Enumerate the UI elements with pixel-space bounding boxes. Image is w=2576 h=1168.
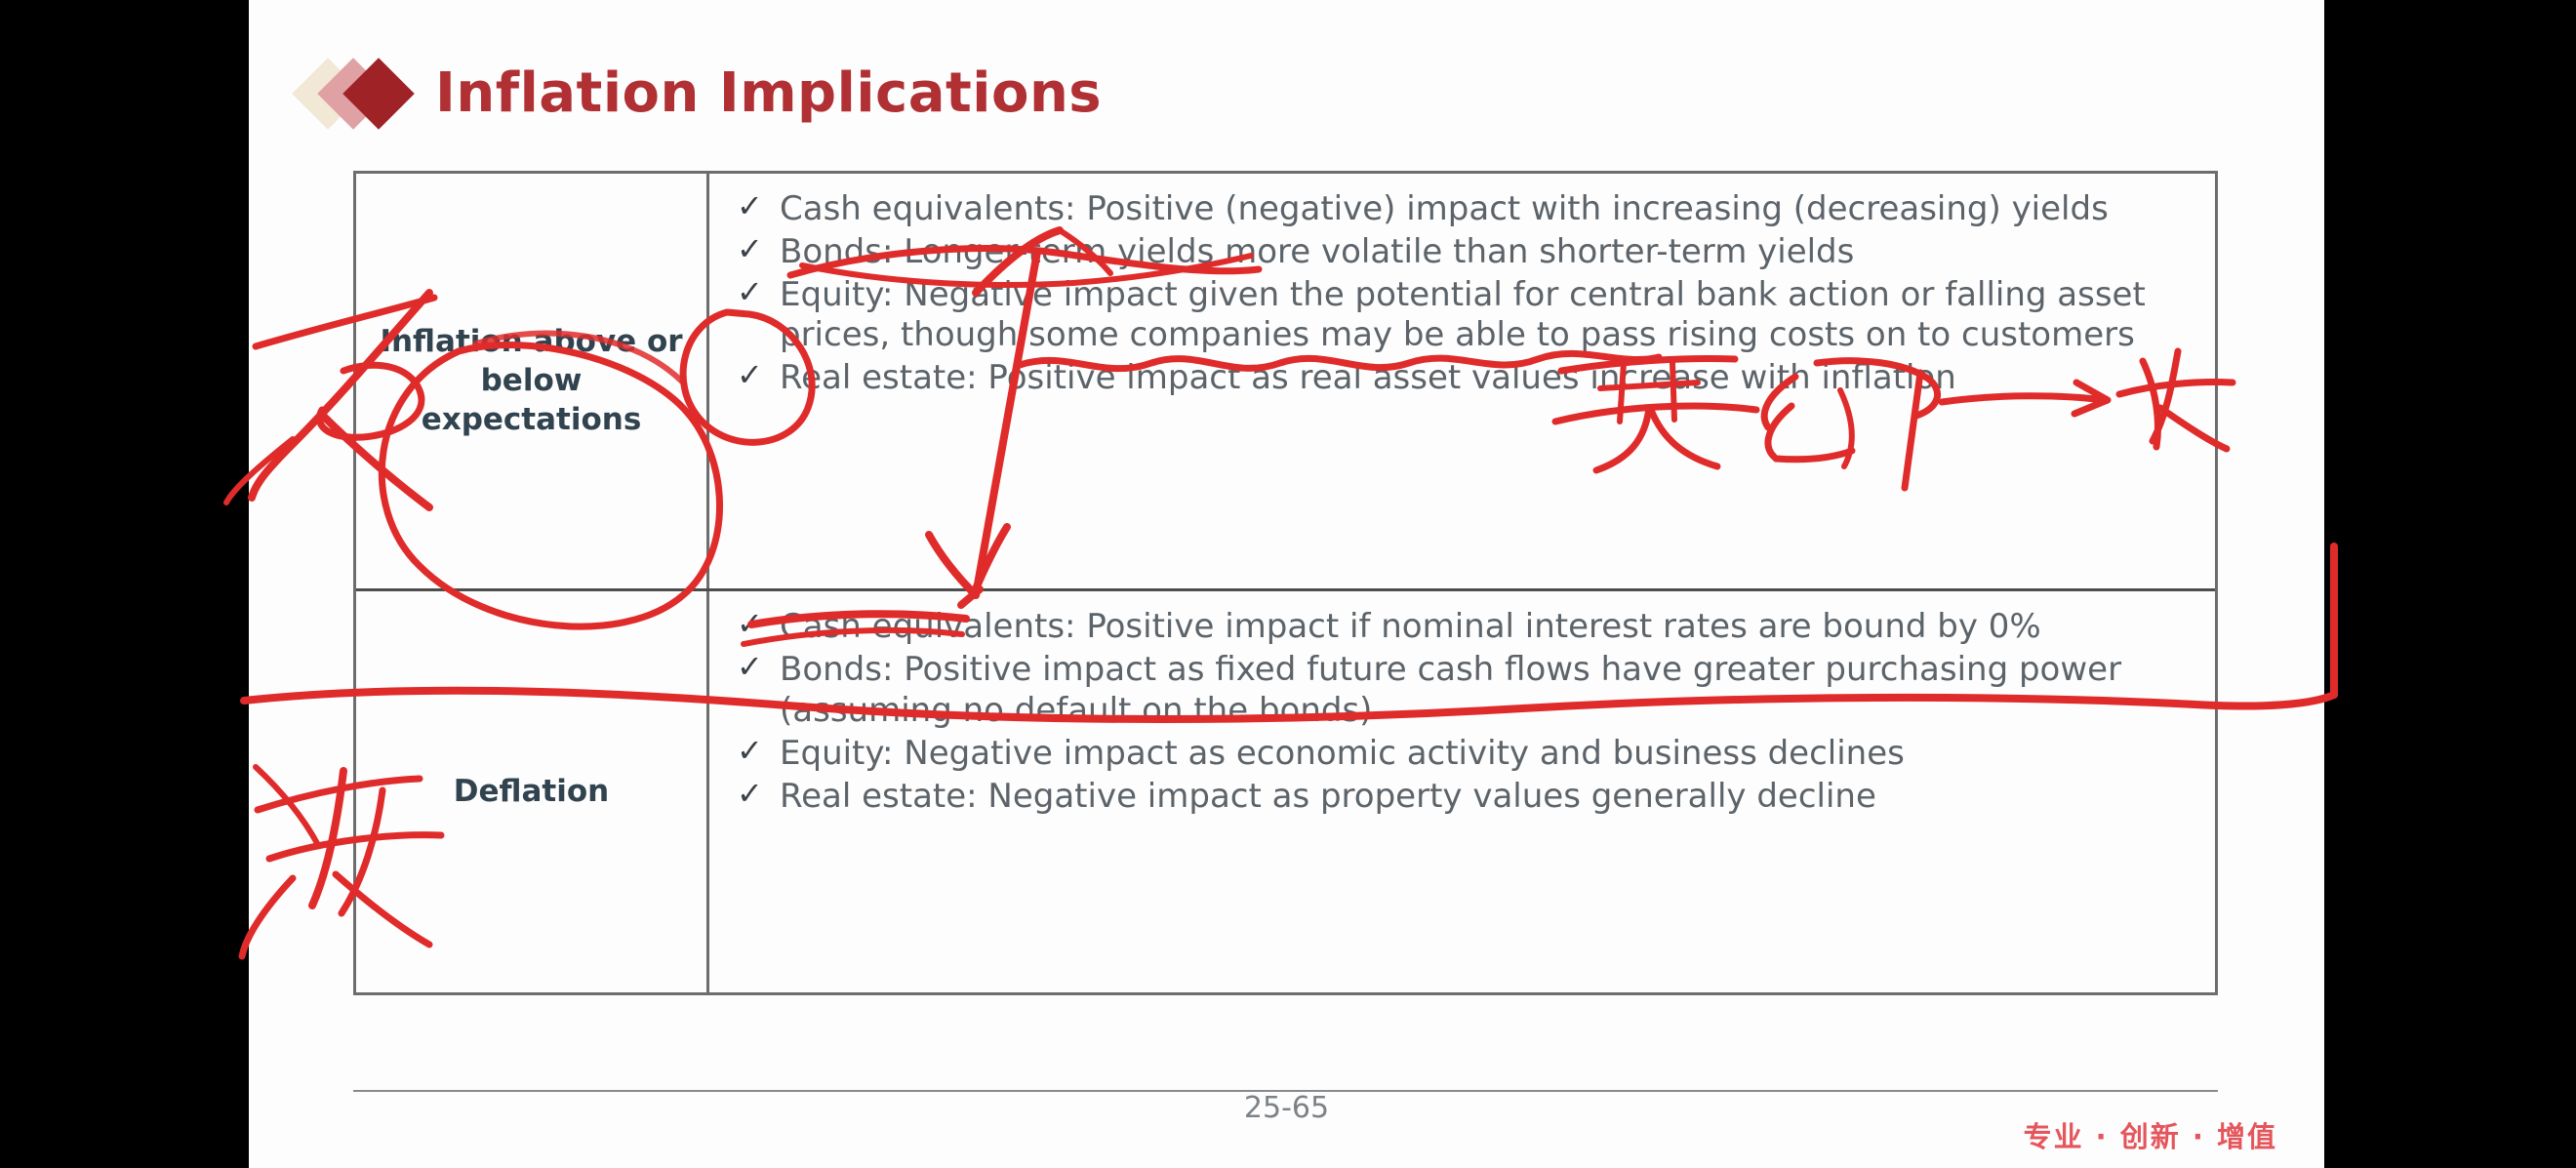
list-item-text: Bonds: Positive impact as fixed future c… [780,650,2121,730]
list-item-text: Cash equivalents: Positive impact if nom… [780,607,2041,646]
row-content-cell-deflation: ✓Cash equivalents: Positive impact if no… [709,591,2215,992]
row-label-cell-deflation: Deflation [356,591,709,992]
table-row: Inflation above or below expectations ✓C… [356,174,2215,591]
implications-table: Inflation above or below expectations ✓C… [353,171,2218,995]
check-icon: ✓ [737,605,763,643]
list-item-text: Equity: Negative impact given the potent… [780,275,2146,355]
list-item: ✓Bonds: Longer-term yields more volatile… [731,232,2190,273]
list-item: ✓Real estate: Negative impact as propert… [731,777,2190,818]
table-row: Deflation ✓Cash equivalents: Positive im… [356,591,2215,992]
list-item: ✓Equity: Negative impact as economic act… [731,734,2190,775]
page-number: 25-65 [249,1091,2324,1125]
list-item: ✓Equity: Negative impact given the poten… [731,275,2190,357]
row-label-text: Inflation above or below expectations [370,323,693,439]
page-title: Inflation Implications [435,61,1102,125]
bullet-list: ✓Cash equivalents: Positive impact if no… [731,607,2190,817]
list-item-text: Real estate: Positive impact as real ass… [780,358,1956,397]
check-icon: ✓ [737,230,763,268]
check-icon: ✓ [737,648,763,686]
list-item-text: Cash equivalents: Positive (negative) im… [780,189,2109,228]
brand-tagline: 专业 · 创新 · 增值 [2024,1114,2277,1155]
check-icon: ✓ [737,356,763,394]
bullet-list: ✓Cash equivalents: Positive (negative) i… [731,189,2190,399]
row-label-text: Deflation [454,773,609,812]
check-icon: ✓ [737,732,763,770]
list-item: ✓Cash equivalents: Positive impact if no… [731,607,2190,648]
list-item: ✓Bonds: Positive impact as fixed future … [731,650,2190,732]
list-item: ✓Real estate: Positive impact as real as… [731,358,2190,399]
list-item-text: Equity: Negative impact as economic acti… [780,734,1905,773]
list-item-text: Real estate: Negative impact as property… [780,777,1876,816]
list-item-text: Bonds: Longer-term yields more volatile … [780,232,1854,271]
row-label-cell-inflation: Inflation above or below expectations [356,174,709,588]
slide-canvas: Inflation Implications Inflation above o… [249,0,2324,1168]
three-diamonds-logo-icon [302,55,420,131]
check-icon: ✓ [737,187,763,225]
letterbox-stage: Inflation Implications Inflation above o… [0,0,2576,1168]
check-icon: ✓ [737,775,763,813]
check-icon: ✓ [737,273,763,311]
slide-header: Inflation Implications [302,49,1102,137]
row-content-cell-inflation: ✓Cash equivalents: Positive (negative) i… [709,174,2215,588]
list-item: ✓Cash equivalents: Positive (negative) i… [731,189,2190,230]
